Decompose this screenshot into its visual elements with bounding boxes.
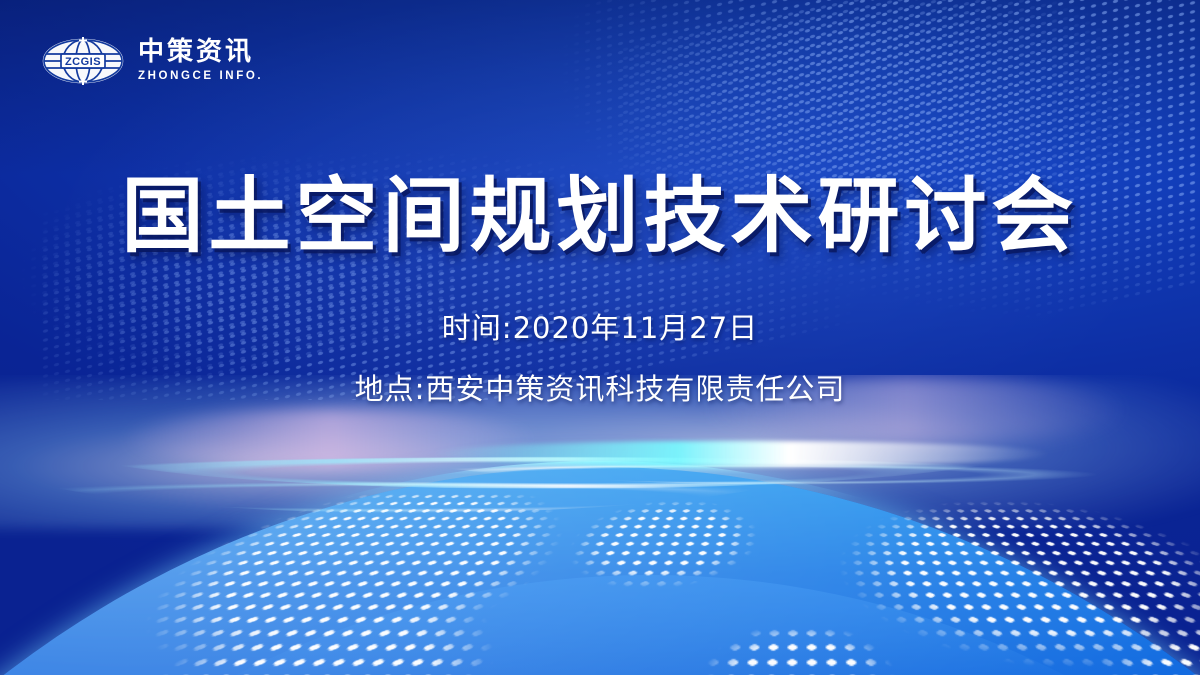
- conference-poster: ZCGIS 中策资讯 ZHONGCE INFO. 国土空间规划技术研讨会 时间:…: [0, 0, 1200, 675]
- svg-text:ZCGIS: ZCGIS: [65, 56, 101, 68]
- brand-logo[interactable]: ZCGIS 中策资讯 ZHONGCE INFO.: [42, 36, 263, 86]
- brand-name-en: ZHONGCE INFO.: [138, 71, 263, 83]
- event-time: 时间:2020年11月27日: [0, 306, 1200, 351]
- event-details: 时间:2020年11月27日 地点:西安中策资讯科技有限责任公司: [0, 306, 1200, 412]
- event-venue: 地点:西安中策资讯科技有限责任公司: [0, 367, 1200, 412]
- page-title: 国土空间规划技术研讨会: [121, 176, 1078, 258]
- globe-horizon-graphic: [0, 375, 1200, 675]
- brand-name-cn: 中策资讯: [138, 39, 263, 65]
- globe-dotted-continents: [0, 493, 1200, 675]
- brand-logo-text: 中策资讯 ZHONGCE INFO.: [138, 39, 263, 83]
- zcgis-globe-emblem-icon: ZCGIS: [42, 36, 124, 86]
- page-title-block: 国土空间规划技术研讨会: [0, 176, 1200, 258]
